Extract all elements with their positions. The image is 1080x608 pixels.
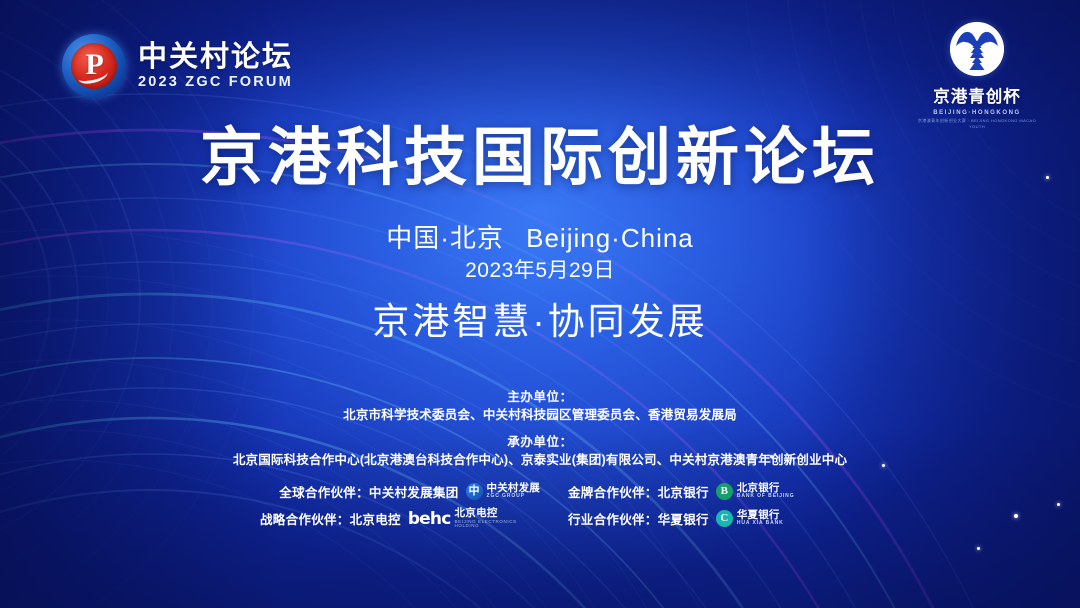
partner-gold[interactable]: 金牌合作伙伴：北京银行 B 北京银行 BANK OF BEIJING <box>568 482 820 501</box>
event-theme: 京港智慧·协同发展 <box>0 291 1080 345</box>
bank-of-beijing-badge-glyph: B <box>716 483 733 500</box>
zgc-forum-logo[interactable]: P 中关村论坛 2023 ZGC FORUM <box>62 34 293 98</box>
hua-xia-bank-name-en: HUA XIA BANK <box>737 521 784 527</box>
hua-xia-bank-icon: C 华夏银行 HUA XIA BANK <box>716 510 784 527</box>
partner-strategic-label: 战略合作伙伴：北京电控 <box>260 509 401 528</box>
partner-industry[interactable]: 行业合作伙伴：华夏银行 C 华夏银行 HUA XIA BANK <box>568 509 820 528</box>
partners-section: 全球合作伙伴：中关村发展集团 中 中关村发展 ZGC GROUP 金牌合作伙伴：… <box>0 482 1080 529</box>
zgc-emblem-icon: P <box>62 34 126 98</box>
zgc-emblem-swoosh-icon <box>77 66 109 86</box>
coorganizer-value: 北京国际科技合作中心(北京港澳台科技合作中心)、京泰实业(集团)有限公司、中关村… <box>0 451 1080 469</box>
hua-xia-bank-badge-glyph: C <box>716 510 733 527</box>
beijing-hongkong-cup-logo[interactable]: 京港青创杯 BEIJING·HONGKONG 京港澳青年创新创业大赛 · BEI… <box>912 22 1042 129</box>
zgc-group-icon: 中 中关村发展 ZGC GROUP <box>466 483 541 500</box>
zgc-logo-name-cn: 中关村论坛 <box>138 42 293 72</box>
coorganizer-block: 承办单位： 北京国际科技合作中心(北京港澳台科技合作中心)、京泰实业(集团)有限… <box>0 434 1080 469</box>
coorganizer-label: 承办单位： <box>0 434 1080 451</box>
partners-row-2: 战略合作伙伴：北京电控 behc 北京电控 BEIJING ELECTRONIC… <box>260 508 820 529</box>
zgc-group-name-en: ZGC GROUP <box>487 494 541 500</box>
behc-icon: behc 北京电控 BEIJING ELECTRONICS HOLDING <box>408 508 540 529</box>
bank-of-beijing-icon: B 北京银行 BANK OF BEIJING <box>716 483 795 500</box>
behc-wordmark: behc <box>408 509 451 529</box>
host-organization-value: 北京市科学技术委员会、中关村科技园区管理委员会、香港贸易发展局 <box>0 406 1080 424</box>
behc-name-en: BEIJING ELECTRONICS HOLDING <box>455 520 541 530</box>
forum-poster: P 中关村论坛 2023 ZGC FORUM 京港青创杯 BEIJING·HON… <box>0 0 1080 608</box>
cup-logo-name-cn: 京港青创杯 <box>912 83 1042 107</box>
beijing-hongkong-cup-emblem-icon <box>950 22 1004 76</box>
behc-name-cn: 北京电控 <box>455 508 541 520</box>
partner-global[interactable]: 全球合作伙伴：中关村发展集团 中 中关村发展 ZGC GROUP <box>260 482 540 501</box>
event-location-cn: 中国·北京 <box>386 223 504 253</box>
partner-strategic[interactable]: 战略合作伙伴：北京电控 behc 北京电控 BEIJING ELECTRONIC… <box>260 508 540 529</box>
page-title: 京港科技国际创新论坛 <box>0 127 1080 190</box>
partner-industry-label: 行业合作伙伴：华夏银行 <box>568 509 709 528</box>
partner-global-label: 全球合作伙伴：中关村发展集团 <box>279 482 458 501</box>
partners-row-1: 全球合作伙伴：中关村发展集团 中 中关村发展 ZGC GROUP 金牌合作伙伴：… <box>260 482 820 501</box>
sparkle-dot <box>977 547 980 550</box>
partner-gold-label: 金牌合作伙伴：北京银行 <box>568 482 709 501</box>
host-organization-label: 主办单位： <box>0 389 1080 406</box>
bank-of-beijing-name-en: BANK OF BEIJING <box>737 494 795 500</box>
event-date: 2023年5月29日 <box>0 254 1080 284</box>
cup-logo-name-en: BEIJING·HONGKONG <box>912 110 1042 116</box>
event-location: 中国·北京 Beijing·China <box>0 218 1080 255</box>
host-organization-block: 主办单位： 北京市科学技术委员会、中关村科技园区管理委员会、香港贸易发展局 <box>0 389 1080 424</box>
zgc-group-badge-glyph: 中 <box>466 483 483 500</box>
event-location-en: Beijing·China <box>526 223 694 253</box>
zgc-logo-name-en: 2023 ZGC FORUM <box>138 74 293 90</box>
